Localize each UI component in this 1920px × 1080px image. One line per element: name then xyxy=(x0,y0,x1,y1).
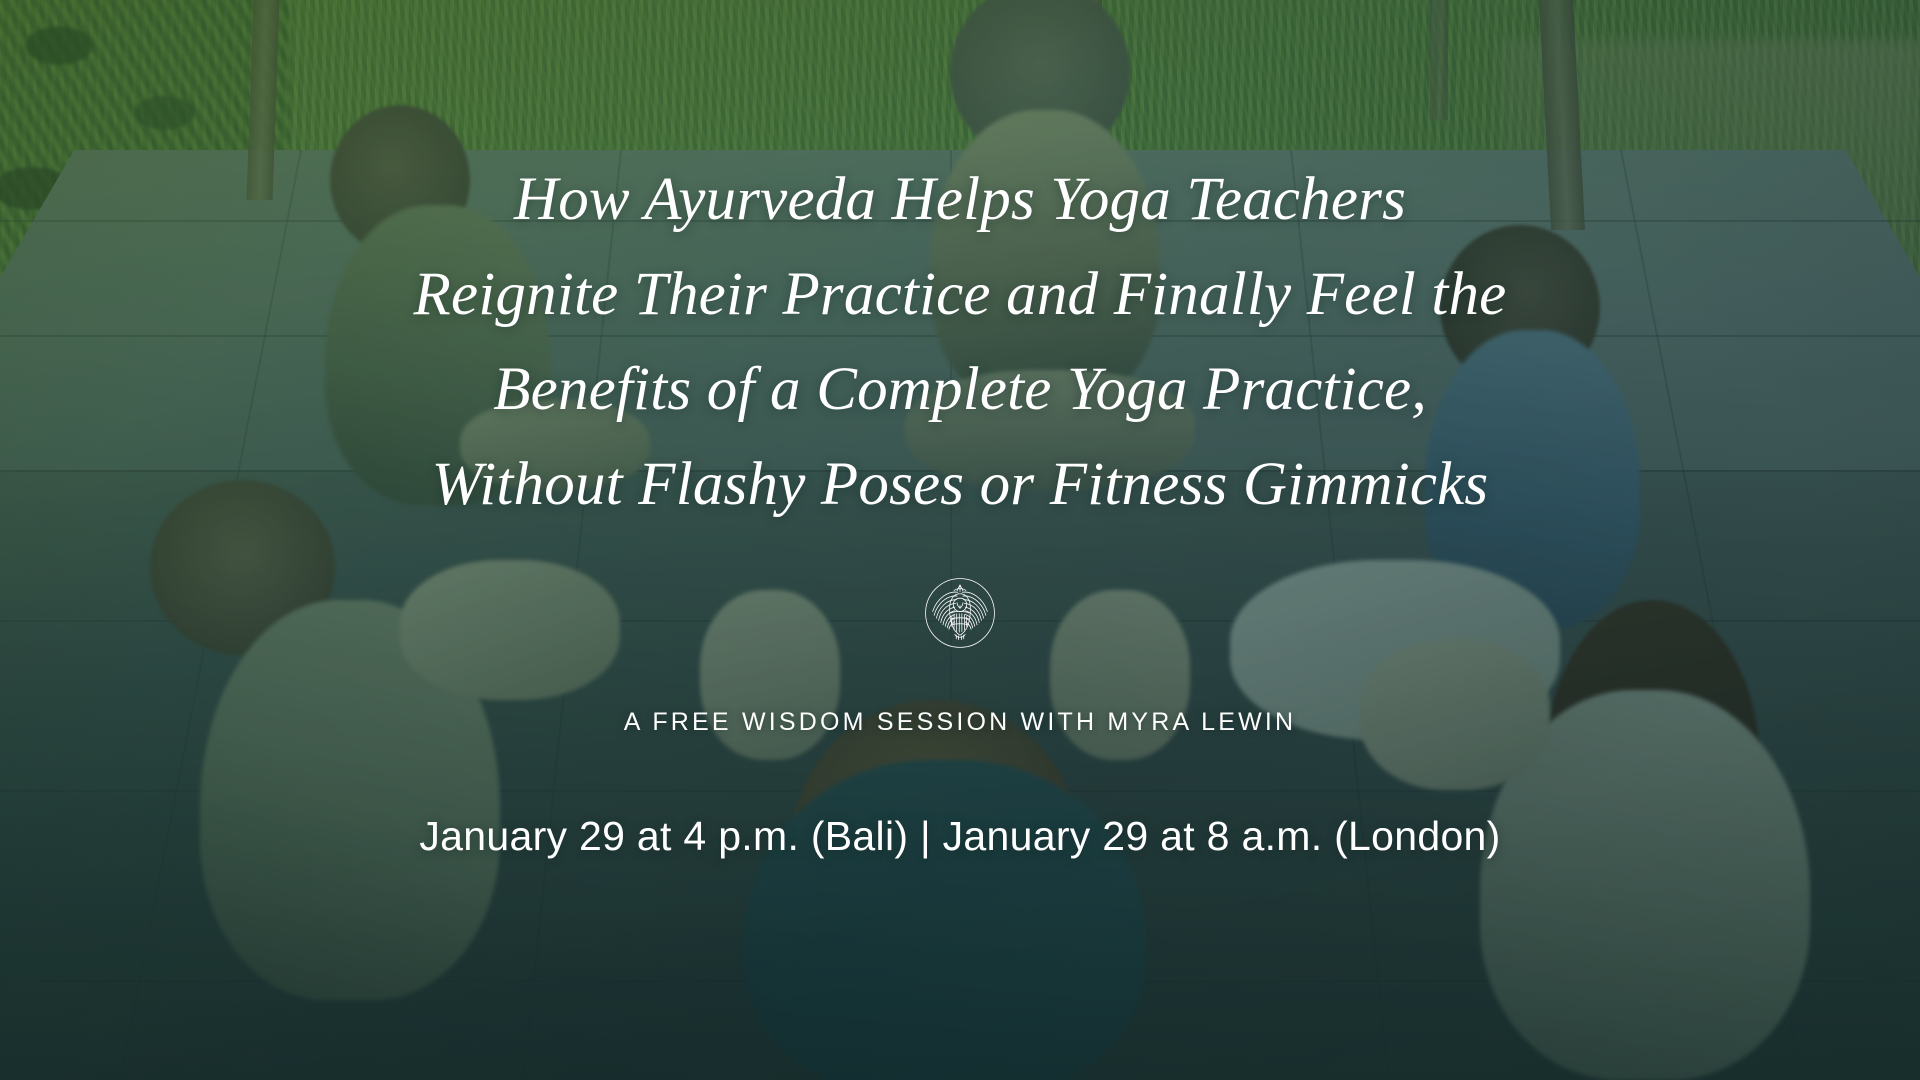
headline-line-4: Without Flashy Poses or Fitness Gimmicks xyxy=(180,437,1740,532)
session-eyebrow: A FREE WISDOM SESSION WITH MYRA LEWIN xyxy=(624,708,1297,737)
owl-emblem-logo-icon xyxy=(923,576,997,650)
headline-line-3: Benefits of a Complete Yoga Practice, xyxy=(180,342,1740,437)
headline-line-1: How Ayurveda Helps Yoga Teachers xyxy=(180,152,1740,247)
banner-content: How Ayurveda Helps Yoga Teachers Reignit… xyxy=(0,0,1920,1080)
session-dateline: January 29 at 4 p.m. (Bali) | January 29… xyxy=(419,813,1500,860)
page-title: How Ayurveda Helps Yoga Teachers Reignit… xyxy=(180,0,1740,532)
banner-canvas: How Ayurveda Helps Yoga Teachers Reignit… xyxy=(0,0,1920,1080)
headline-line-2: Reignite Their Practice and Finally Feel… xyxy=(180,247,1740,342)
